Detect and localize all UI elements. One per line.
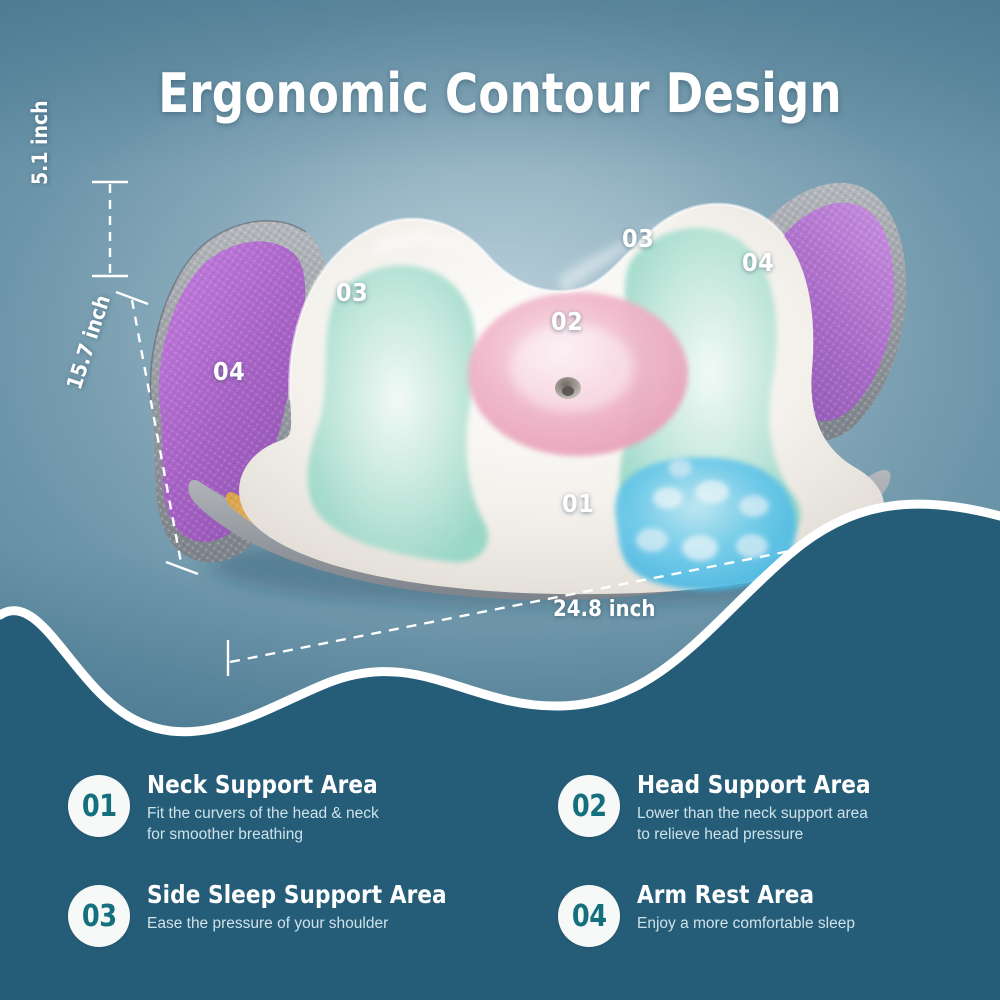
legend-desc-line1: Ease the pressure of your shoulder — [147, 914, 459, 935]
legend-title: Side Sleep Support Area — [147, 881, 447, 909]
legend-description: Lower than the neck support area to reli… — [637, 804, 880, 845]
legend-description: Ease the pressure of your shoulder — [147, 914, 459, 935]
legend-badge-number: 01 — [82, 789, 117, 824]
legend-grid: 01 Neck Support Area Fit the curvers of … — [68, 769, 968, 984]
legend-title: Head Support Area — [637, 771, 871, 799]
legend-band: 01 Neck Support Area Fit the curvers of … — [0, 755, 1000, 1000]
legend-badge-03: 03 — [68, 885, 130, 947]
legend-badge-01: 01 — [68, 775, 130, 837]
page-title: Ergonomic Contour Design — [35, 62, 965, 125]
legend-badge-number: 03 — [82, 899, 117, 934]
legend-text-02: Head Support Area Lower than the neck su… — [637, 769, 880, 845]
legend-title: Neck Support Area — [147, 771, 378, 799]
legend-badge-04: 04 — [558, 885, 620, 947]
legend-desc-line1: Lower than the neck support area — [637, 804, 880, 825]
legend-desc-line1: Fit the curvers of the head & neck — [147, 804, 387, 825]
legend-title: Arm Rest Area — [637, 881, 846, 909]
legend-item-02[interactable]: 02 Head Support Area Lower than the neck… — [558, 769, 968, 879]
infographic-root: 01 02 03 03 04 04 5.1 inch 15.7 inch 24.… — [0, 0, 1000, 1000]
legend-desc-line2: for smoother breathing — [147, 825, 387, 846]
legend-description: Fit the curvers of the head & neck for s… — [147, 804, 387, 845]
legend-item-01[interactable]: 01 Neck Support Area Fit the curvers of … — [68, 769, 558, 879]
legend-text-04: Arm Rest Area Enjoy a more comfortable s… — [637, 879, 855, 935]
wave-divider — [0, 470, 1000, 770]
legend-desc-line1: Enjoy a more comfortable sleep — [637, 914, 855, 935]
legend-desc-line2: to relieve head pressure — [637, 825, 880, 846]
legend-text-01: Neck Support Area Fit the curvers of the… — [147, 769, 387, 845]
legend-badge-number: 02 — [572, 789, 607, 824]
legend-item-04[interactable]: 04 Arm Rest Area Enjoy a more comfortabl… — [558, 879, 968, 984]
legend-description: Enjoy a more comfortable sleep — [637, 914, 855, 935]
legend-badge-number: 04 — [572, 899, 607, 934]
legend-text-03: Side Sleep Support Area Ease the pressur… — [147, 879, 459, 935]
legend-badge-02: 02 — [558, 775, 620, 837]
legend-item-03[interactable]: 03 Side Sleep Support Area Ease the pres… — [68, 879, 558, 984]
